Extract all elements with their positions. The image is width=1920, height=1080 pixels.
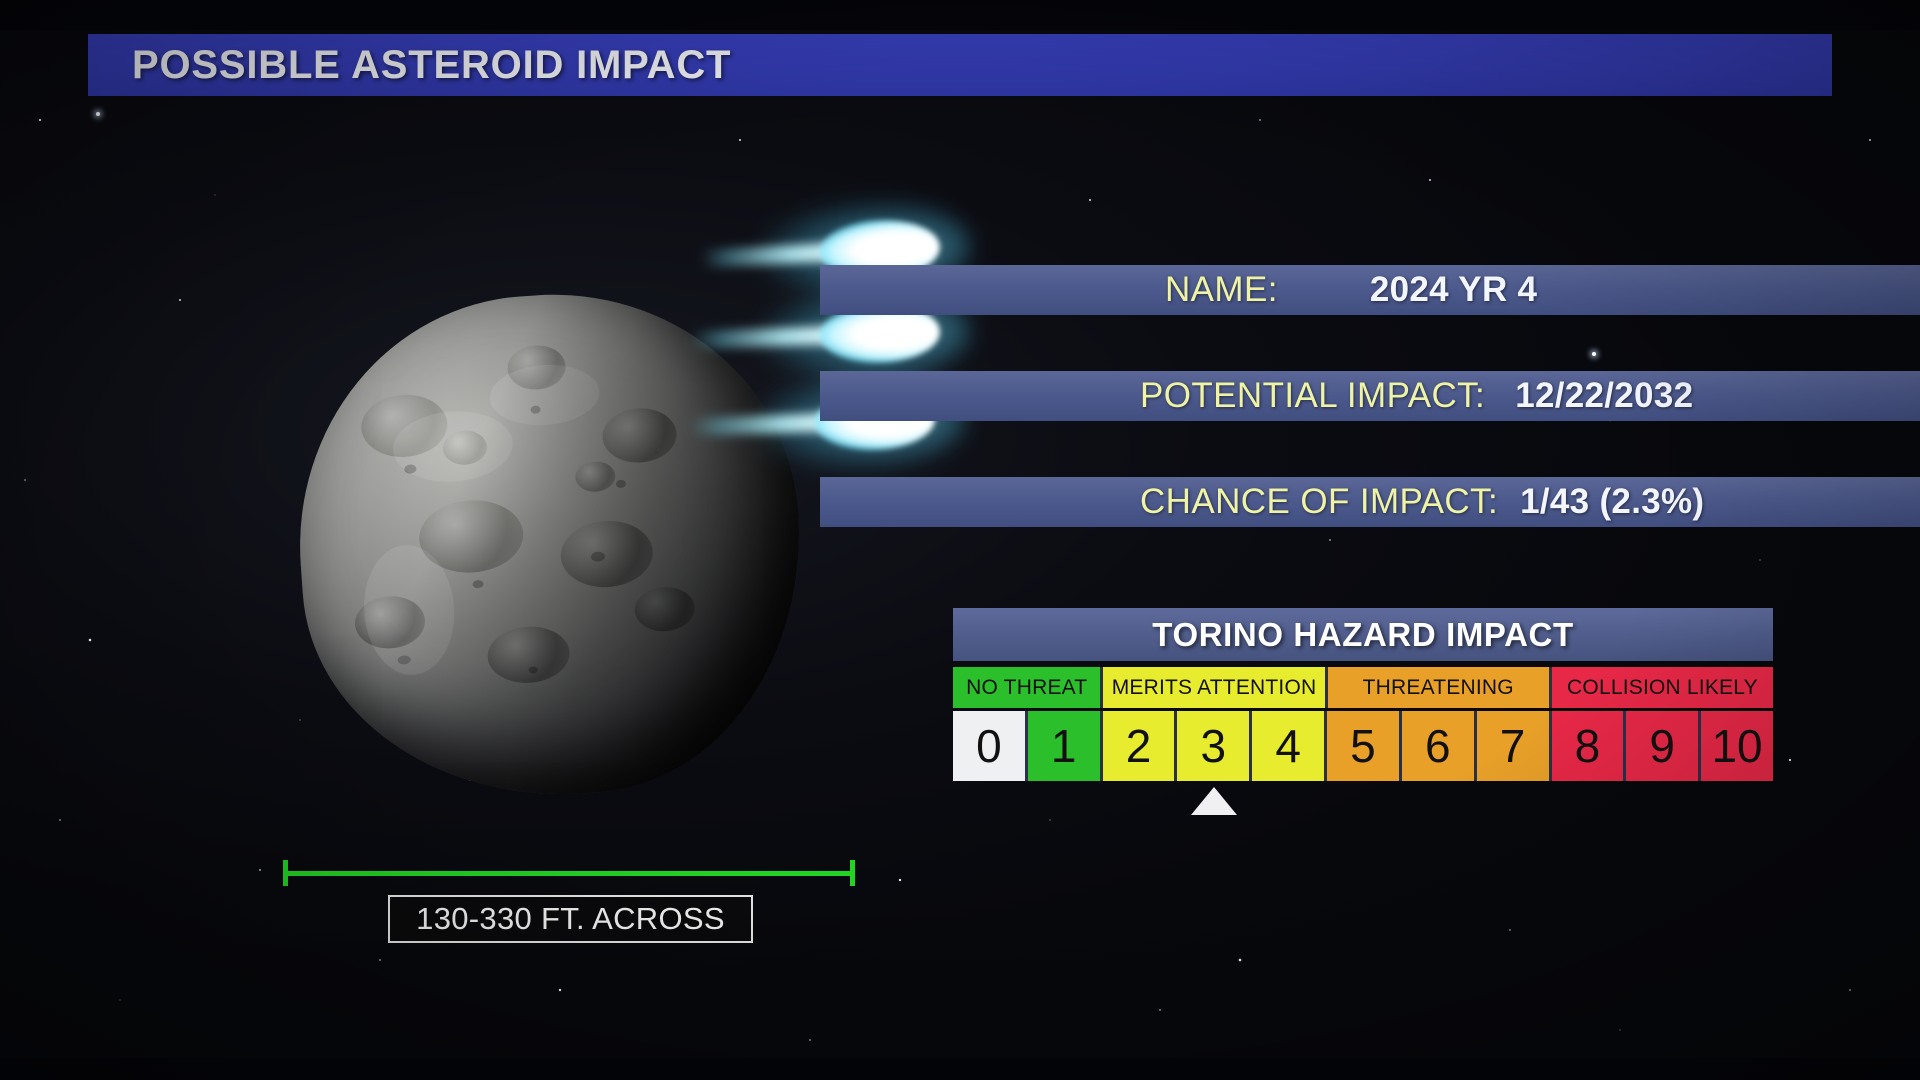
torino-cell-value: 8 xyxy=(1575,719,1601,773)
torino-band-2: THREATENING xyxy=(1328,667,1552,708)
torino-cell-value: 3 xyxy=(1201,719,1227,773)
torino-cell-value: 9 xyxy=(1649,719,1675,773)
size-measurement-bracket xyxy=(283,860,855,886)
torino-cell-6[interactable]: 6 xyxy=(1402,711,1477,781)
torino-band-label: COLLISION LIKELY xyxy=(1567,676,1758,700)
torino-cell-value: 0 xyxy=(976,719,1002,773)
torino-hazard-scale: TORINO HAZARD IMPACT NO THREATMERITS ATT… xyxy=(953,608,1773,781)
info-label-name: NAME: xyxy=(1165,270,1278,310)
torino-cell-value: 2 xyxy=(1126,719,1152,773)
info-label-chance-of-impact: CHANCE OF IMPACT: xyxy=(1140,482,1498,522)
torino-cell-0[interactable]: 0 xyxy=(953,711,1028,781)
torino-band-0: NO THREAT xyxy=(953,667,1103,708)
torino-band-3: COLLISION LIKELY xyxy=(1552,667,1773,708)
torino-band-label: THREATENING xyxy=(1363,676,1514,700)
torino-cell-value: 1 xyxy=(1051,719,1077,773)
torino-cell-value: 5 xyxy=(1350,719,1376,773)
torino-cell-10[interactable]: 10 xyxy=(1701,711,1773,781)
info-row-potential-impact: POTENTIAL IMPACT: 12/22/2032 xyxy=(820,371,1920,421)
torino-cell-7[interactable]: 7 xyxy=(1477,711,1552,781)
torino-cell-4[interactable]: 4 xyxy=(1252,711,1327,781)
torino-cell-5[interactable]: 5 xyxy=(1327,711,1402,781)
letterbox-top xyxy=(0,0,1920,30)
vignette-overlay xyxy=(0,0,1920,1080)
starfield-layer-mid xyxy=(0,0,1920,1080)
info-row-chance-of-impact: CHANCE OF IMPACT: 1/43 (2.3%) xyxy=(820,477,1920,527)
torino-cell-value: 4 xyxy=(1275,719,1301,773)
torino-cell-1[interactable]: 1 xyxy=(1028,711,1103,781)
torino-current-level-marker xyxy=(1191,787,1237,815)
info-label-potential-impact: POTENTIAL IMPACT: xyxy=(1140,376,1485,416)
torino-cell-value: 6 xyxy=(1425,719,1451,773)
info-value-potential-impact: 12/22/2032 xyxy=(1515,376,1693,416)
torino-cell-2[interactable]: 2 xyxy=(1103,711,1178,781)
torino-band-1: MERITS ATTENTION xyxy=(1103,667,1327,708)
torino-cell-row: 012345678910 xyxy=(953,711,1773,781)
info-row-name: NAME: 2024 YR 4 xyxy=(820,265,1920,315)
asteroid-illustration xyxy=(300,295,800,795)
info-value-name: 2024 YR 4 xyxy=(1370,270,1537,310)
graphic-canvas: POSSIBLE ASTEROID IMPACT xyxy=(0,0,1920,1080)
torino-cell-8[interactable]: 8 xyxy=(1552,711,1627,781)
torino-cell-value: 7 xyxy=(1500,719,1526,773)
torino-cell-3[interactable]: 3 xyxy=(1177,711,1252,781)
asteroid-body xyxy=(283,278,817,812)
starfield-layer-faint xyxy=(0,0,1920,1080)
info-value-chance-of-impact: 1/43 (2.3%) xyxy=(1520,482,1704,522)
starfield-layer-bright xyxy=(0,0,1920,1080)
title-banner: POSSIBLE ASTEROID IMPACT xyxy=(88,34,1832,96)
bright-star xyxy=(1592,352,1596,356)
torino-band-label: MERITS ATTENTION xyxy=(1112,676,1317,700)
letterbox-bottom xyxy=(0,1058,1920,1080)
torino-cell-value: 10 xyxy=(1711,719,1762,773)
torino-band-label: NO THREAT xyxy=(966,676,1087,700)
bright-star xyxy=(96,112,100,116)
page-title: POSSIBLE ASTEROID IMPACT xyxy=(132,43,731,88)
torino-title: TORINO HAZARD IMPACT xyxy=(953,608,1773,661)
asteroid-size-label: 130-330 FT. ACROSS xyxy=(388,895,753,943)
torino-cell-9[interactable]: 9 xyxy=(1626,711,1701,781)
torino-band-row: NO THREATMERITS ATTENTIONTHREATENINGCOLL… xyxy=(953,667,1773,708)
